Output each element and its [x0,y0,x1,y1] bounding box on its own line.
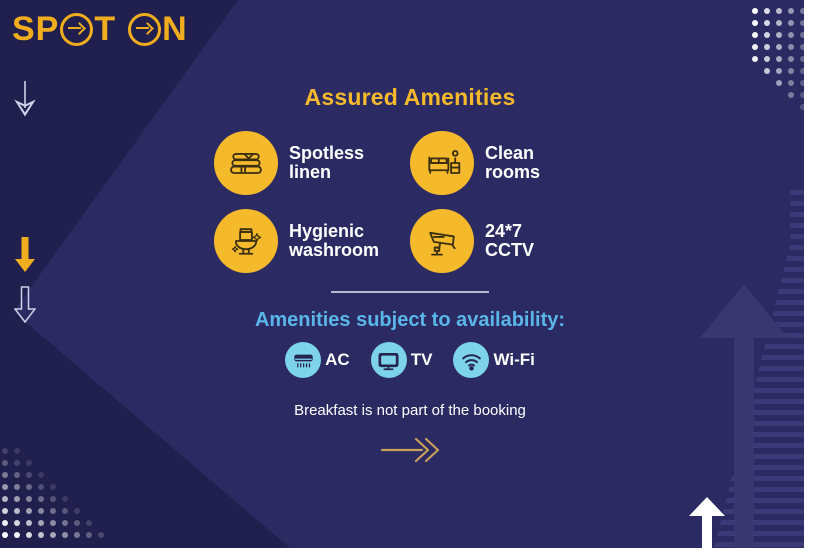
dot [50,520,56,526]
logo-text-t: T [94,12,116,46]
availability-icon-badge [453,342,489,378]
decor-arrow-down-outline-bottom [14,285,36,330]
main-content: Assured Amenities S [150,0,670,548]
availability-item-ac: AC [285,342,350,378]
amenity-item-cctv: 24*7 CCTV [410,209,606,273]
amenity-label-line1: 24*7 [485,222,534,241]
availability-label: Wi-Fi [493,350,534,370]
decor-arrow-down-solid-gold [14,235,36,280]
wifi-icon [459,348,484,373]
dot [38,496,44,502]
dot [14,532,20,538]
availability-label: TV [411,350,433,370]
dot [38,484,44,490]
dot [2,484,8,490]
dot [74,532,80,538]
dot [2,532,8,538]
availability-item-tv: TV [371,342,433,378]
dot [74,508,80,514]
dot [26,460,32,466]
amenity-label-line1: Hygienic [289,222,379,241]
bed-icon [422,143,462,183]
logo-text-sp: SP [12,12,59,46]
dot [2,496,8,502]
section-divider [331,291,489,293]
amenity-label: Hygienic washroom [289,222,379,261]
dot [26,532,32,538]
dot [50,532,56,538]
dot [14,520,20,526]
dot [2,448,8,454]
page-title: Assured Amenities [150,84,670,111]
dot [14,448,20,454]
amenity-label-line1: Spotless [289,144,364,163]
amenity-label: Spotless linen [289,144,364,183]
dot [50,484,56,490]
amenity-label-line2: linen [289,163,364,182]
availability-icon-row: AC TV [150,342,670,378]
television-icon [376,348,401,373]
dot [14,484,20,490]
dot [38,472,44,478]
availability-item-wifi: Wi-Fi [453,342,534,378]
amenity-label-line2: rooms [485,163,540,182]
dot [2,460,8,466]
dot [26,496,32,502]
dot [38,520,44,526]
cctv-camera-icon [422,221,462,261]
amenity-icon-badge [214,131,278,195]
logo-o-arrow-icon-1 [60,13,93,46]
dot [26,520,32,526]
dot [14,508,20,514]
decor-arrow-down-outline-top [12,78,38,123]
availability-icon-badge [285,342,321,378]
folded-linen-icon [226,143,266,183]
dot [14,472,20,478]
booking-note: Breakfast is not part of the booking [150,402,670,419]
dot [74,520,80,526]
air-conditioner-icon [291,348,316,373]
toilet-icon [226,221,266,261]
dot [2,508,8,514]
dot [38,508,44,514]
amenity-label-line2: washroom [289,241,379,260]
dot [62,520,68,526]
dot [2,520,8,526]
dot [26,508,32,514]
amenity-icon-badge [410,131,474,195]
dot [26,484,32,490]
cta-arrow [150,435,670,465]
dot [50,496,56,502]
dot [86,532,92,538]
amenity-icon-badge [214,209,278,273]
dot [62,532,68,538]
right-chevron-arrow-icon [378,435,442,465]
dot [38,532,44,538]
amenity-label: 24*7 CCTV [485,222,534,261]
dot [2,472,8,478]
dot [14,460,20,466]
amenity-icon-badge [410,209,474,273]
availability-subheading: Amenities subject to availability: [150,309,670,332]
assured-amenities-grid: Spotless linen [150,131,670,273]
dot [62,508,68,514]
decor-arrow-up-white [684,494,730,559]
dot [86,520,92,526]
availability-label: AC [325,350,350,370]
amenity-label: Clean rooms [485,144,540,183]
dot [14,496,20,502]
amenity-item-clean-rooms: Clean rooms [410,131,606,195]
amenity-label-line2: CCTV [485,241,534,260]
dot [50,508,56,514]
availability-icon-badge [371,342,407,378]
amenity-item-hygienic-washroom: Hygienic washroom [214,209,410,273]
dot [98,532,104,538]
dot [62,496,68,502]
dot [26,472,32,478]
slide-canvas: SP T N Assured Amenities [0,0,820,560]
amenity-label-line1: Clean [485,144,540,163]
amenity-item-spotless-linen: Spotless linen [214,131,410,195]
